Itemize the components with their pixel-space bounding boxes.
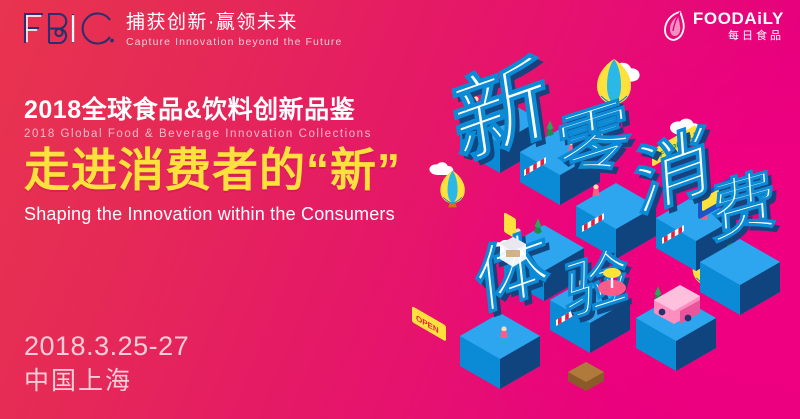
fbic-tagline-block: 捕获创新·赢领未来 Capture Innovation beyond the …: [126, 10, 342, 49]
fbic-tagline-en: Capture Innovation beyond the Future: [126, 35, 342, 49]
isometric-illustration: FOODAiLY OPEN 新 新: [400, 0, 800, 419]
fbic-logo-group: 捕获创新·赢领未来 Capture Innovation beyond the …: [22, 10, 342, 49]
event-title-en: 2018 Global Food & Beverage Innovation C…: [24, 126, 401, 142]
event-slogan-cn: 走进消费者的“新”: [24, 144, 401, 196]
poster-canvas: 捕获创新·赢领未来 Capture Innovation beyond the …: [0, 0, 800, 419]
event-city: 中国上海: [24, 365, 189, 397]
event-title-cn: 2018全球食品&饮料创新品鉴: [24, 96, 401, 125]
fbic-wordmark-icon: [22, 10, 114, 46]
headline-block: 2018全球食品&饮料创新品鉴 2018 Global Food & Bever…: [24, 96, 401, 226]
event-slogan-en: Shaping the Innovation within the Consum…: [24, 202, 401, 226]
event-date: 2018.3.25-27: [24, 330, 189, 363]
fbic-tagline-cn: 捕获创新·赢领未来: [126, 12, 342, 34]
event-meta-block: 2018.3.25-27 中国上海: [24, 330, 189, 397]
